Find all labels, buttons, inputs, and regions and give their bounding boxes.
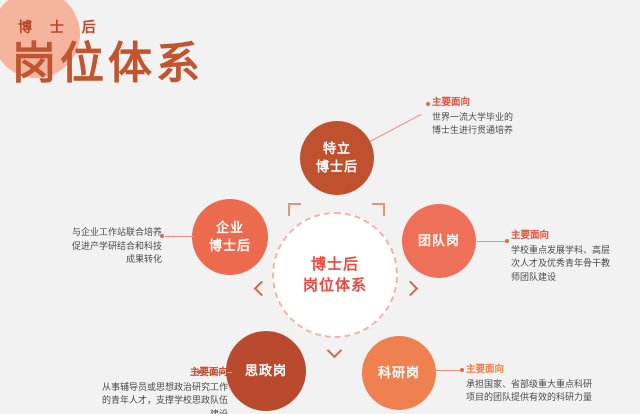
node-keyan-gang[interactable]: 科研岗 (362, 336, 436, 410)
annotation-body: 世界一流大学毕业的 博士生进行贯通培养 (432, 111, 572, 138)
bracket-top-right-icon (372, 203, 385, 216)
annotation-heading: 主要面向 (432, 96, 572, 110)
annotation-heading: 主要面向 (511, 229, 639, 243)
center-label-line2: 岗位体系 (303, 275, 367, 296)
annotation-body: 从事辅导员或思想政治研究工作 的青年人才，支撑学校思政队伍 建设 (62, 381, 228, 414)
node-sizheng-gang[interactable]: 思政岗 (226, 331, 306, 411)
node-label-line1: 科研岗 (378, 364, 420, 382)
node-label-line2: 博士后 (316, 158, 358, 176)
connector-line-keyan (432, 370, 462, 371)
center-label-line1: 博士后 (311, 254, 359, 275)
connector-line-tuandui (477, 241, 507, 242)
node-tuandui-gang[interactable]: 团队岗 (402, 204, 476, 278)
center-label: 博士后 岗位体系 (272, 212, 398, 338)
connector-dot-teli (426, 102, 430, 106)
connector-line-qiye (165, 236, 195, 237)
connector-dot-keyan (460, 368, 464, 372)
annotation-keyan: 主要面向 承担国家、省部级重大重点科研 项目的团队提供有效的科研力量 (466, 363, 640, 405)
annotation-tuandui: 主要面向 学校重点发展学科、高层 次人才及优秀青年骨干教 师团队建设 (511, 229, 639, 284)
annotation-body: 与企业工作站联合培养 促进产学研结合和科技 成果转化 (30, 226, 162, 267)
annotation-body: 学校重点发展学科、高层 次人才及优秀青年骨干教 师团队建设 (511, 244, 639, 285)
annotation-qiye: 与企业工作站联合培养 促进产学研结合和科技 成果转化 (30, 226, 162, 267)
annotation-heading: 主要面向 (466, 363, 640, 377)
bracket-top-left-icon (288, 203, 301, 216)
node-label-line1: 企业 (216, 219, 244, 237)
node-label-line2: 博士后 (209, 237, 251, 255)
chevron-down-icon (327, 343, 343, 359)
node-teli-bshihou[interactable]: 特立 博士后 (300, 121, 374, 195)
node-label-line1: 思政岗 (245, 362, 287, 380)
connector-line-teli (370, 114, 422, 142)
infographic-canvas: 博 士 后 岗位体系 博士后 岗位体系 特立 博士后 团队岗 企业 博士后 思政… (0, 0, 640, 414)
annotation-body: 承担国家、省部级重大重点科研 项目的团队提供有效的科研力量 (466, 378, 640, 405)
title-subtitle: 博 士 后 (18, 17, 103, 37)
annotation-sizheng: 主要面向 从事辅导员或思想政治研究工作 的青年人才，支撑学校思政队伍 建设 (62, 366, 228, 414)
annotation-heading: 主要面向 (62, 366, 228, 380)
node-qiye-boshihou[interactable]: 企业 博士后 (192, 199, 268, 275)
node-label-line1: 特立 (323, 140, 351, 158)
page-title: 岗位体系 (12, 40, 204, 88)
chevron-right-icon (403, 281, 419, 297)
connector-dot-tuandui (505, 239, 509, 243)
chevron-left-icon (254, 281, 270, 297)
annotation-teli: 主要面向 世界一流大学毕业的 博士生进行贯通培养 (432, 96, 572, 138)
node-label-line1: 团队岗 (418, 232, 460, 250)
